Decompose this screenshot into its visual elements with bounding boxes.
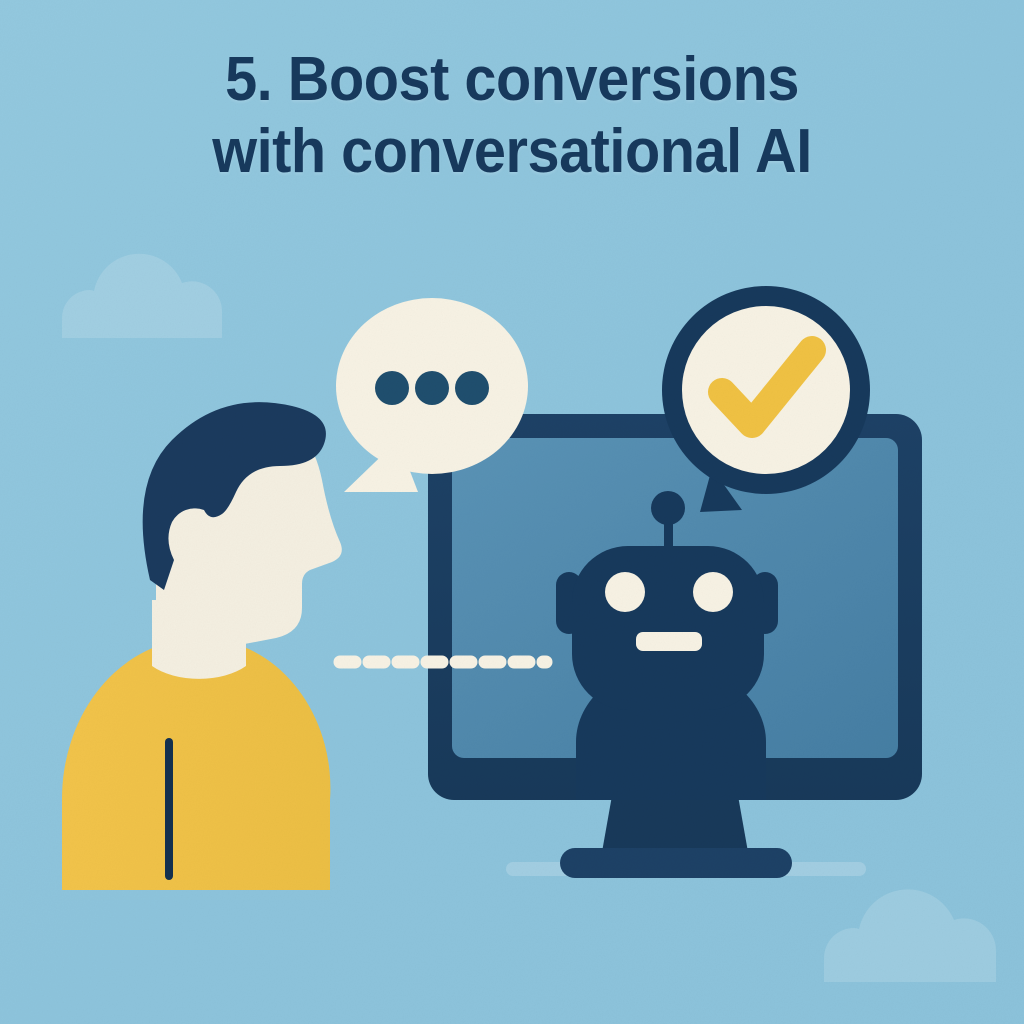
shirt-placket xyxy=(165,738,173,880)
person-ear xyxy=(170,520,222,572)
illustration-canvas: 5. Boost conversions with conversational… xyxy=(0,0,1024,1024)
monitor-base xyxy=(560,848,792,878)
robot-eye-left xyxy=(605,572,645,612)
robot-eye-right xyxy=(693,572,733,612)
robot-head xyxy=(572,546,764,710)
typing-dot-3 xyxy=(455,371,489,405)
scene-artwork xyxy=(0,0,1024,1024)
robot-antenna-ball xyxy=(651,491,685,525)
robot-mouth xyxy=(636,632,702,651)
typing-dot-2 xyxy=(415,371,449,405)
typing-dot-1 xyxy=(375,371,409,405)
